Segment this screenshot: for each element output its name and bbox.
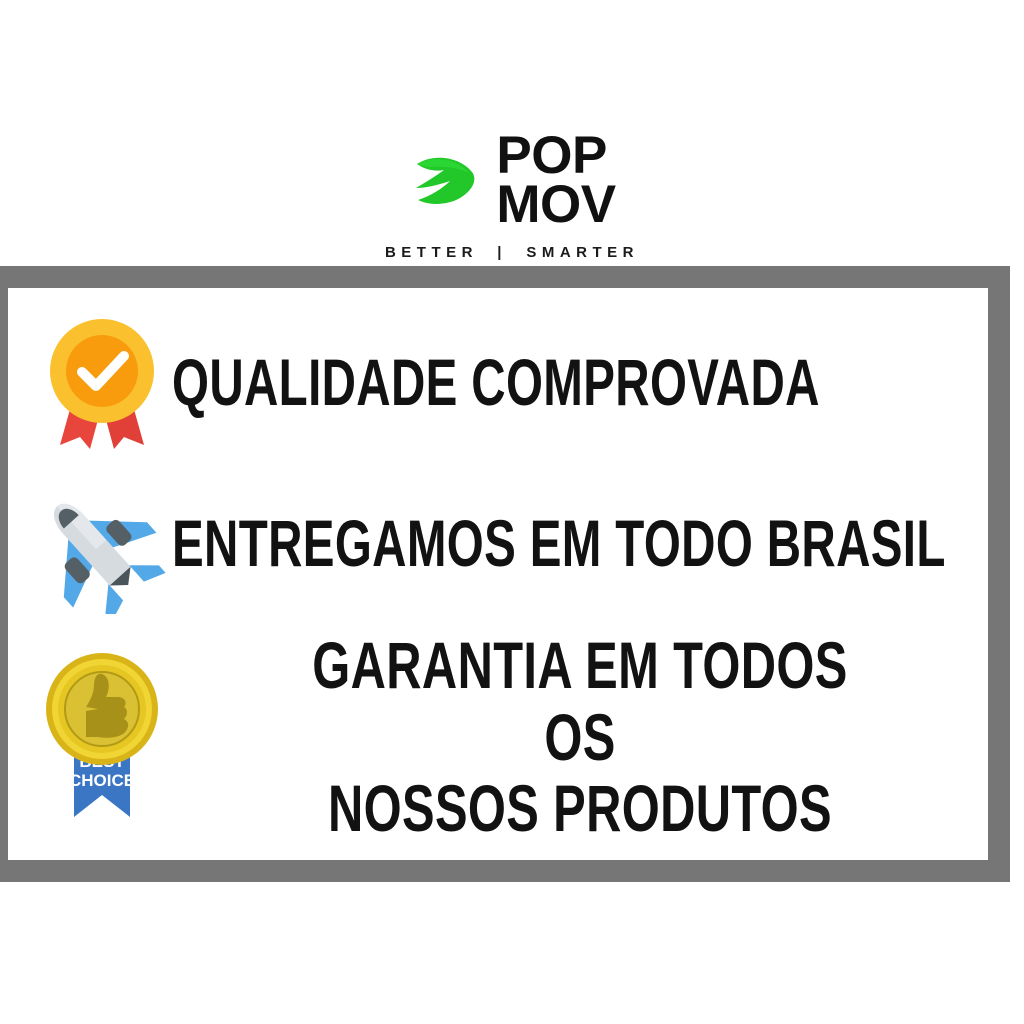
feature-row-warranty: BEST CHOICE xyxy=(8,630,988,844)
feature-list: QUALIDADE COMPROVADA xyxy=(8,288,988,860)
logo-row: POP MOV xyxy=(408,132,615,230)
brand-tagline: BETTER | SMARTER xyxy=(385,244,639,261)
feature-text-warranty: GARANTIA EM TODOS OS NOSSOS PRODUTOS xyxy=(278,630,882,844)
logo-wordmark: POP MOV xyxy=(496,132,615,230)
feature-row-shipping: ENTREGAMOS EM TODO BRASIL xyxy=(8,469,988,619)
best-choice-medal-icon: BEST CHOICE xyxy=(32,662,172,812)
airplane-icon xyxy=(32,469,172,619)
award-rosette-icon xyxy=(32,308,172,458)
feature-text-shipping: ENTREGAMOS EM TODO BRASIL xyxy=(172,508,946,579)
green-wing-icon xyxy=(408,144,482,218)
feature-frame: QUALIDADE COMPROVADA xyxy=(0,266,1010,882)
feature-text-warranty-line2: NOSSOS PRODUTOS xyxy=(278,773,882,844)
medal-ribbon-line2: CHOICE xyxy=(69,771,135,790)
feature-text-warranty-line1: GARANTIA EM TODOS OS xyxy=(278,630,882,773)
logo-line-pop: POP xyxy=(496,132,615,181)
feature-text-quality: QUALIDADE COMPROVADA xyxy=(172,347,820,418)
logo-line-mov: MOV xyxy=(496,181,615,230)
brand-logo: POP MOV BETTER | SMARTER xyxy=(0,132,1024,261)
feature-frame-inner: QUALIDADE COMPROVADA xyxy=(8,288,988,860)
feature-row-quality: QUALIDADE COMPROVADA xyxy=(8,308,988,458)
